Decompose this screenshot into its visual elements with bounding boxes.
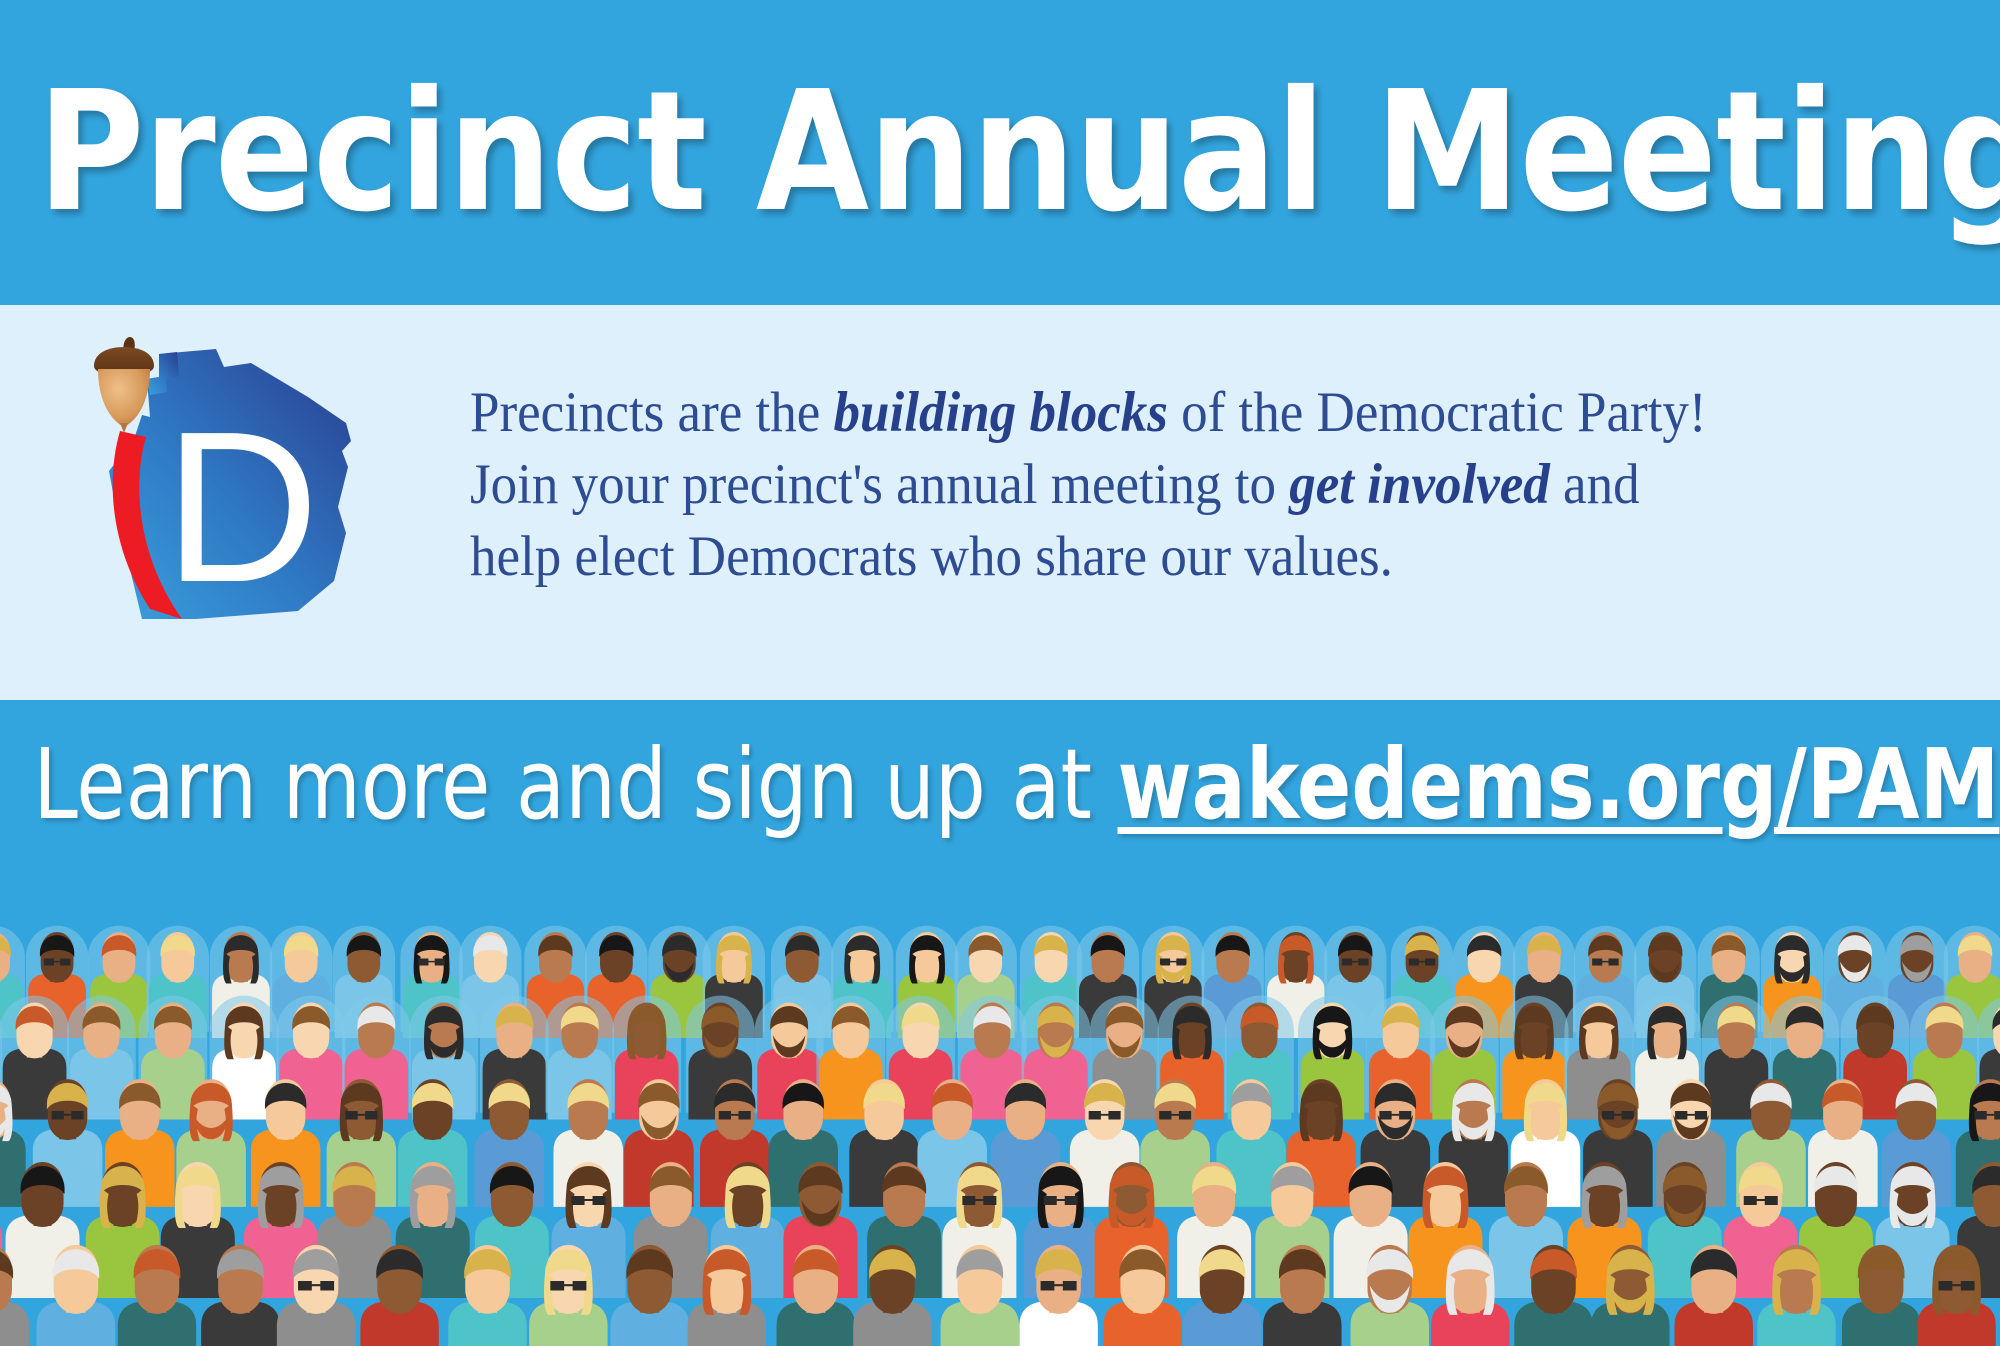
crowd-row [0,1245,2000,1346]
title-band: Precinct Annual Meetings [0,0,2000,305]
info-line-2-emphasis: get involved [1289,453,1550,516]
logo-svg: D [46,319,356,619]
info-text-block: Precincts are the building blocks of the… [470,305,1830,592]
info-line-1-part-1: Precincts are the [470,381,834,444]
signup-url-link[interactable]: wakedems.org/PAM [1118,728,2000,841]
logo-letter-d: D [164,386,319,619]
crowd-svg [0,868,2000,1346]
info-line-2-part-3: and [1550,453,1640,516]
info-line-2-part-1: Join your precinct's annual meeting to [470,453,1289,516]
info-line-1-part-3: of the Democratic Party! [1168,381,1707,444]
flyer-poster: Precinct Annual Meetings [0,0,2000,1346]
info-band: D Precincts are the building blocks of t… [0,305,2000,700]
wake-dems-logo: D [46,319,356,619]
info-line-3: help elect Democrats who share our value… [470,521,1707,593]
page-title: Precinct Annual Meetings [0,70,2000,236]
crowd-illustration [0,868,2000,1346]
cta-lead-label: Learn more and sign up at [33,728,1117,841]
info-line-3-part-1: help elect Democrats who share our value… [470,525,1393,588]
info-line-1-emphasis: building blocks [834,381,1168,444]
info-line-1: Precincts are the building blocks of the… [470,377,1707,449]
cta-band: Learn more and sign up at wakedems.org/P… [0,700,2000,868]
cta-text: Learn more and sign up at wakedems.org/P… [0,736,1999,833]
info-line-2: Join your precinct's annual meeting to g… [470,449,1707,521]
